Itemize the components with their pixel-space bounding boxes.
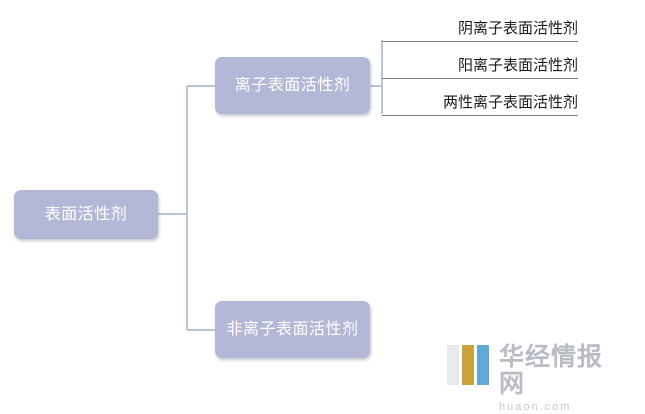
leaf-anionic-surfactant[interactable]: 阴离子表面活性剂: [382, 20, 578, 42]
node-root[interactable]: 表面活性剂: [14, 190, 158, 239]
watermark: 华经情报网 huaon.com: [447, 344, 627, 396]
watermark-url: huaon.com: [499, 400, 627, 414]
watermark-logo-icon: [447, 345, 491, 385]
node-nonionic-surfactant[interactable]: 非离子表面活性剂: [215, 301, 370, 358]
watermark-name: 华经情报网: [499, 344, 627, 398]
diagram-canvas: 表面活性剂 离子表面活性剂 非离子表面活性剂 阴离子表面活性剂 阳离子表面活性剂…: [0, 0, 645, 413]
leaf-cationic-surfactant[interactable]: 阳离子表面活性剂: [382, 57, 578, 79]
leaf-amphoteric-surfactant[interactable]: 两性离子表面活性剂: [382, 94, 578, 116]
watermark-text: 华经情报网 huaon.com: [499, 344, 627, 414]
node-ionic-surfactant[interactable]: 离子表面活性剂: [215, 57, 370, 114]
